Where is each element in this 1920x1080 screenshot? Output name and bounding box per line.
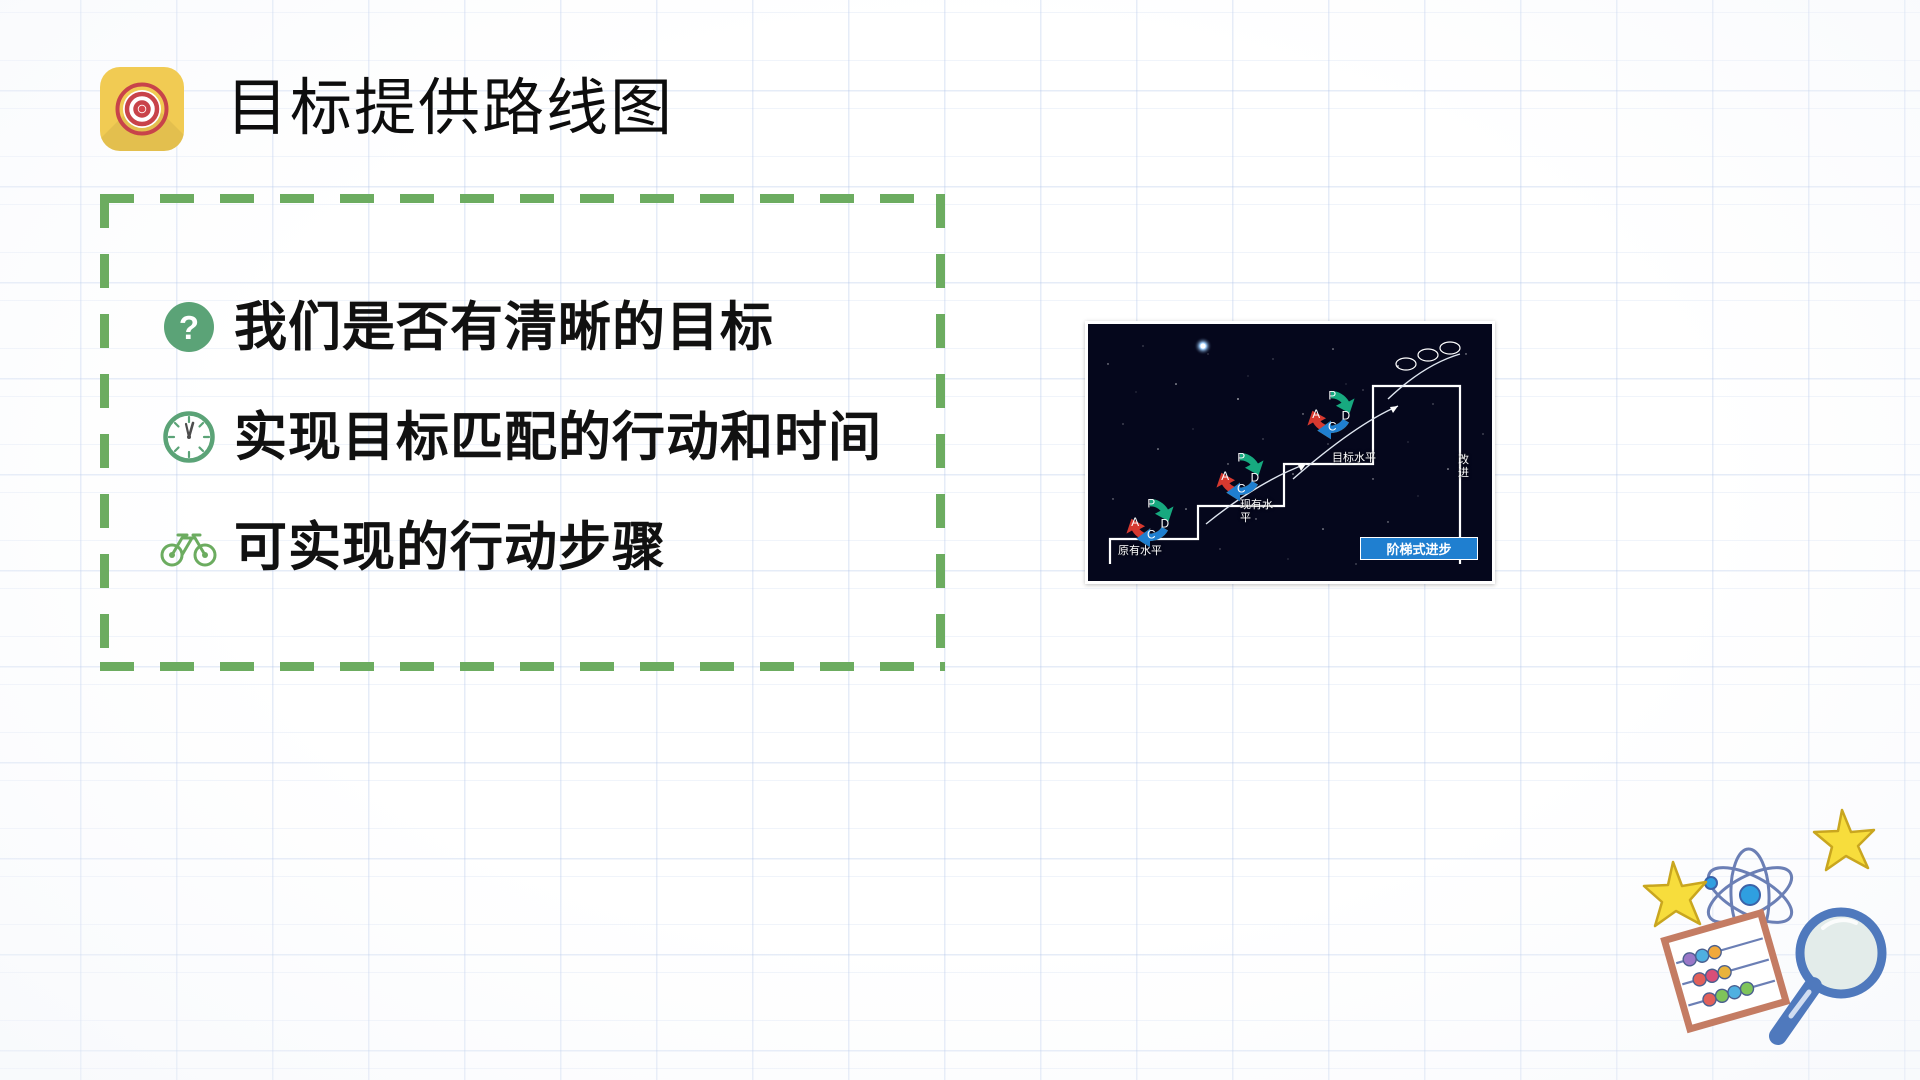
label-target-level: 目标水平 xyxy=(1332,452,1376,465)
question-mark-icon: ? xyxy=(160,298,218,356)
list-item-label: 可实现的行动步骤 xyxy=(234,521,666,574)
list-item[interactable]: 可实现的行动步骤 xyxy=(160,492,940,602)
list-item-label: 实现目标匹配的行动和时间 xyxy=(234,411,882,464)
bicycle-icon xyxy=(160,518,218,576)
svg-text:C: C xyxy=(1328,421,1337,434)
bullet-list: ? 我们是否有清晰的目标 xyxy=(160,272,940,602)
list-item-label: 我们是否有清晰的目标 xyxy=(234,301,774,354)
svg-text:A: A xyxy=(1221,470,1229,483)
list-item[interactable]: ? 我们是否有清晰的目标 xyxy=(160,272,940,382)
svg-text:C: C xyxy=(1147,529,1156,542)
slide-header: 目标提供路线图 xyxy=(100,67,674,151)
status-banner: 阶梯式进步 xyxy=(1360,537,1478,560)
svg-text:P: P xyxy=(1147,498,1155,511)
svg-text:A: A xyxy=(1131,516,1139,529)
label-improvement: 改 进 xyxy=(1458,454,1469,479)
pdca-staircase-image: P D C A P D C A P xyxy=(1085,321,1495,584)
decoration-cluster xyxy=(1610,800,1910,1080)
label-current-level: 现有水 平 xyxy=(1240,499,1273,524)
clock-icon xyxy=(160,408,218,466)
svg-text:P: P xyxy=(1237,452,1245,465)
svg-text:C: C xyxy=(1237,483,1246,496)
svg-text:?: ? xyxy=(179,309,199,346)
label-original-level: 原有水平 xyxy=(1118,545,1162,558)
svg-text:D: D xyxy=(1251,471,1260,484)
svg-text:A: A xyxy=(1312,408,1320,421)
star-icon xyxy=(1814,810,1874,870)
svg-text:D: D xyxy=(1342,409,1351,422)
slide-canvas: 目标提供路线图 ? 我们是否有清晰的目标 xyxy=(0,0,1920,1080)
target-icon xyxy=(100,67,184,151)
abacus-icon xyxy=(1665,913,1786,1029)
svg-text:D: D xyxy=(1161,517,1170,530)
list-item[interactable]: 实现目标匹配的行动和时间 xyxy=(160,382,940,492)
svg-text:P: P xyxy=(1328,390,1336,403)
page-title: 目标提供路线图 xyxy=(226,78,674,140)
magnifier-icon xyxy=(1778,912,1882,1036)
star-icon xyxy=(1644,862,1706,926)
